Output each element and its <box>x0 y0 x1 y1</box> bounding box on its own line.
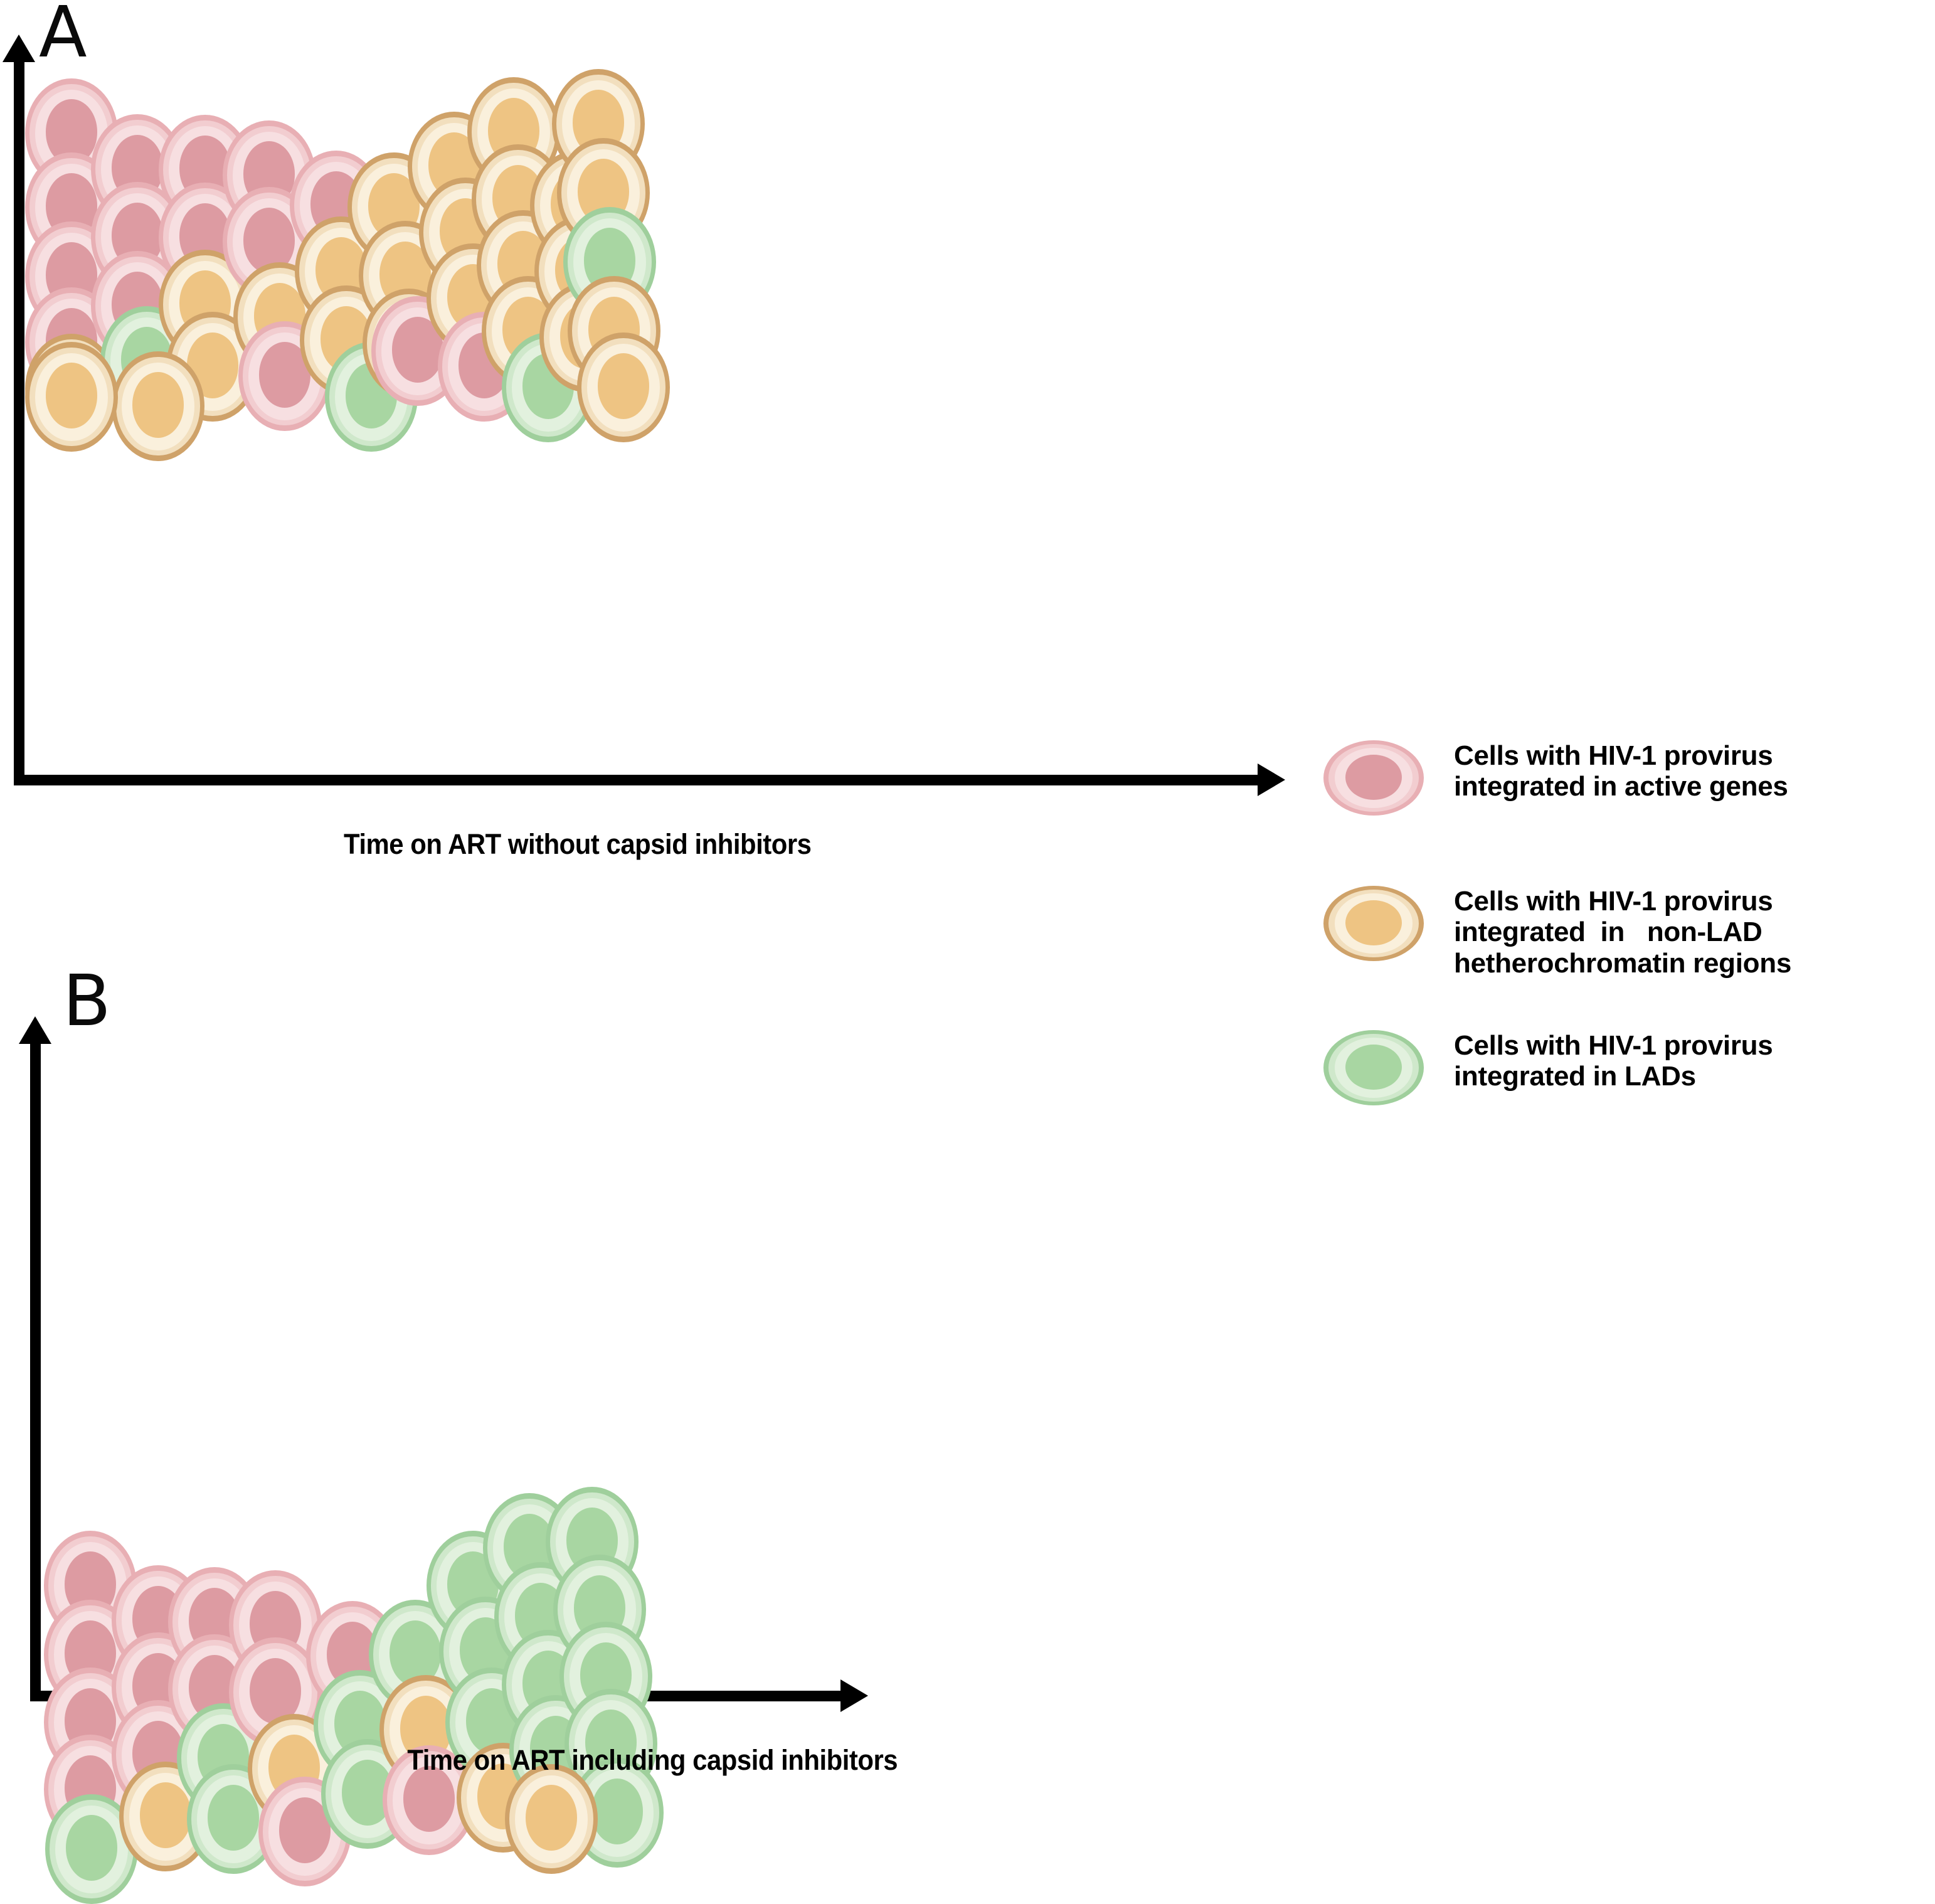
cell-marker-orange <box>1323 886 1424 961</box>
legend-label-green: Cells with HIV-1 provirusintegrated in L… <box>1454 1030 1906 1092</box>
legend-label-line: integrated in active genes <box>1454 771 1906 802</box>
legend-row-green: Cells with HIV-1 provirusintegrated in L… <box>1323 1030 1906 1105</box>
legend-label-line: integrated in LADs <box>1454 1061 1906 1092</box>
panel-a-cell-plot <box>0 0 1305 784</box>
panel-a-axis-caption: Time on ART without capsid inhibitors <box>344 828 811 861</box>
legend-label-line: Cells with HIV-1 provirus <box>1454 886 1906 917</box>
cell-marker-orange <box>112 351 204 461</box>
panel-b: B Time on ART including capsid inhibitor… <box>0 966 1305 1832</box>
cell-marker-orange <box>505 1764 598 1874</box>
cell-marker-orange <box>577 332 670 442</box>
legend-row-pink: Cells with HIV-1 provirusintegrated in a… <box>1323 740 1906 816</box>
cell-marker-pink <box>1323 740 1424 816</box>
cell-marker-orange <box>25 342 118 452</box>
legend-cell-orange <box>1323 886 1424 961</box>
panel-b-axis-caption: Time on ART including capsid inhibitors <box>407 1744 898 1777</box>
legend-label-orange: Cells with HIV-1 provirusintegrated in n… <box>1454 886 1906 979</box>
legend-cell-green <box>1323 1030 1424 1105</box>
legend-label-line: Cells with HIV-1 provirus <box>1454 740 1906 771</box>
legend-label-line: integrated in non-LAD <box>1454 917 1906 947</box>
panel-a: A Time on ART without capsid inhibitors <box>0 0 1305 891</box>
legend-label-pink: Cells with HIV-1 provirusintegrated in a… <box>1454 740 1906 802</box>
legend-label-line: hetherochromatin regions <box>1454 948 1906 979</box>
legend-cell-pink <box>1323 740 1424 816</box>
legend-label-line: Cells with HIV-1 provirus <box>1454 1030 1906 1061</box>
cell-marker-green <box>1323 1030 1424 1105</box>
legend-row-orange: Cells with HIV-1 provirusintegrated in n… <box>1323 886 1906 979</box>
panel-b-cell-plot <box>0 966 1305 1706</box>
